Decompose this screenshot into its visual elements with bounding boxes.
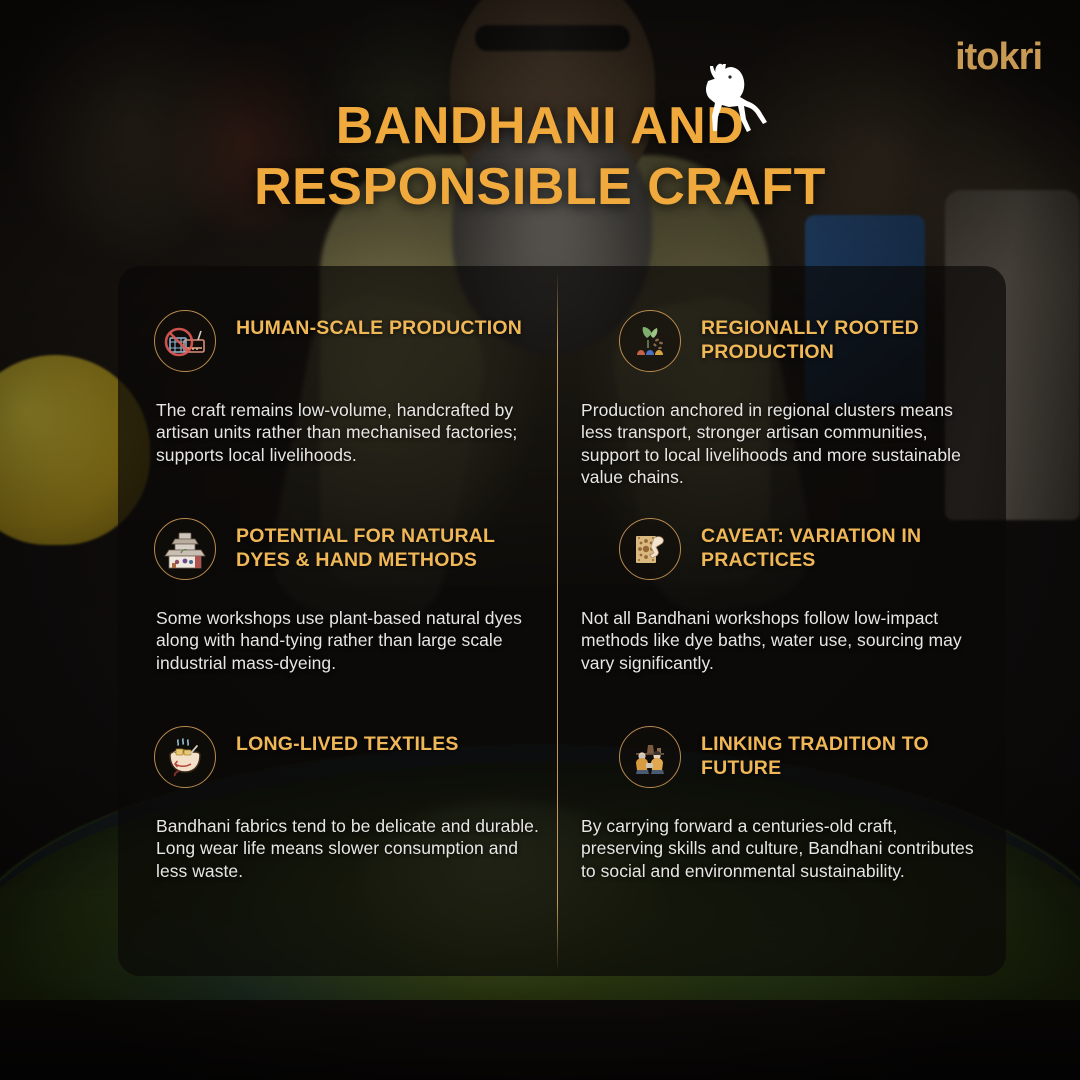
dye-pot-icon [154,726,216,788]
two-artisans-icon [619,726,681,788]
card-human-scale-production: HUMAN-SCALE PRODUCTION The craft remains… [118,266,557,474]
card-header: CAVEAT: VARIATION IN PRACTICES [619,518,980,580]
card-title: REGIONALLY ROOTED PRODUCTION [701,310,980,365]
infographic-poster: itokri BANDHANI AND RESPONSIBLE CRAFT [0,0,1080,1080]
card-header: HUMAN-SCALE PRODUCTION [154,310,539,372]
card-header: LINKING TRADITION TO FUTURE [619,726,980,788]
artisan-workshop-icon [154,518,216,580]
card-long-lived-textiles: LONG-LIVED TEXTILES Bandhani fabrics ten… [118,682,557,976]
no-factory-icon [154,310,216,372]
hand-holding-fabric-icon [619,518,681,580]
title-line-1: BANDHANI AND [110,96,970,157]
card-title: HUMAN-SCALE PRODUCTION [236,310,522,341]
card-body: By carrying forward a centuries-old craf… [581,815,980,882]
card-header: REGIONALLY ROOTED PRODUCTION [619,310,980,372]
card-header: LONG-LIVED TEXTILES [154,726,539,788]
card-caveat-variation-in-practices: CAVEAT: VARIATION IN PRACTICES Not all B… [557,474,1006,682]
card-title: LONG-LIVED TEXTILES [236,726,459,757]
card-body: Some workshops use plant-based natural d… [156,607,539,674]
card-title: LINKING TRADITION TO FUTURE [701,726,980,781]
card-linking-tradition-to-future: LINKING TRADITION TO FUTURE By carrying … [557,682,1006,976]
card-body: Bandhani fabrics tend to be delicate and… [156,815,539,882]
card-regionally-rooted-production: REGIONALLY ROOTED PRODUCTION Production … [557,266,1006,474]
card-natural-dyes-hand-methods: POTENTIAL FOR NATURAL DYES & HAND METHOD… [118,474,557,682]
card-title: CAVEAT: VARIATION IN PRACTICES [701,518,980,573]
title-line-2: RESPONSIBLE CRAFT [110,157,970,218]
antelope-mark-icon [683,60,803,140]
card-title: POTENTIAL FOR NATURAL DYES & HAND METHOD… [236,518,539,573]
card-body: The craft remains low-volume, handcrafte… [156,399,539,466]
cards-grid: HUMAN-SCALE PRODUCTION The craft remains… [118,266,1006,976]
card-body: Not all Bandhani workshops follow low-im… [581,607,980,674]
page-title: BANDHANI AND RESPONSIBLE CRAFT [0,96,1080,219]
itokri-logo[interactable]: itokri [955,38,1042,76]
card-header: POTENTIAL FOR NATURAL DYES & HAND METHOD… [154,518,539,580]
natural-dye-plants-icon [619,310,681,372]
